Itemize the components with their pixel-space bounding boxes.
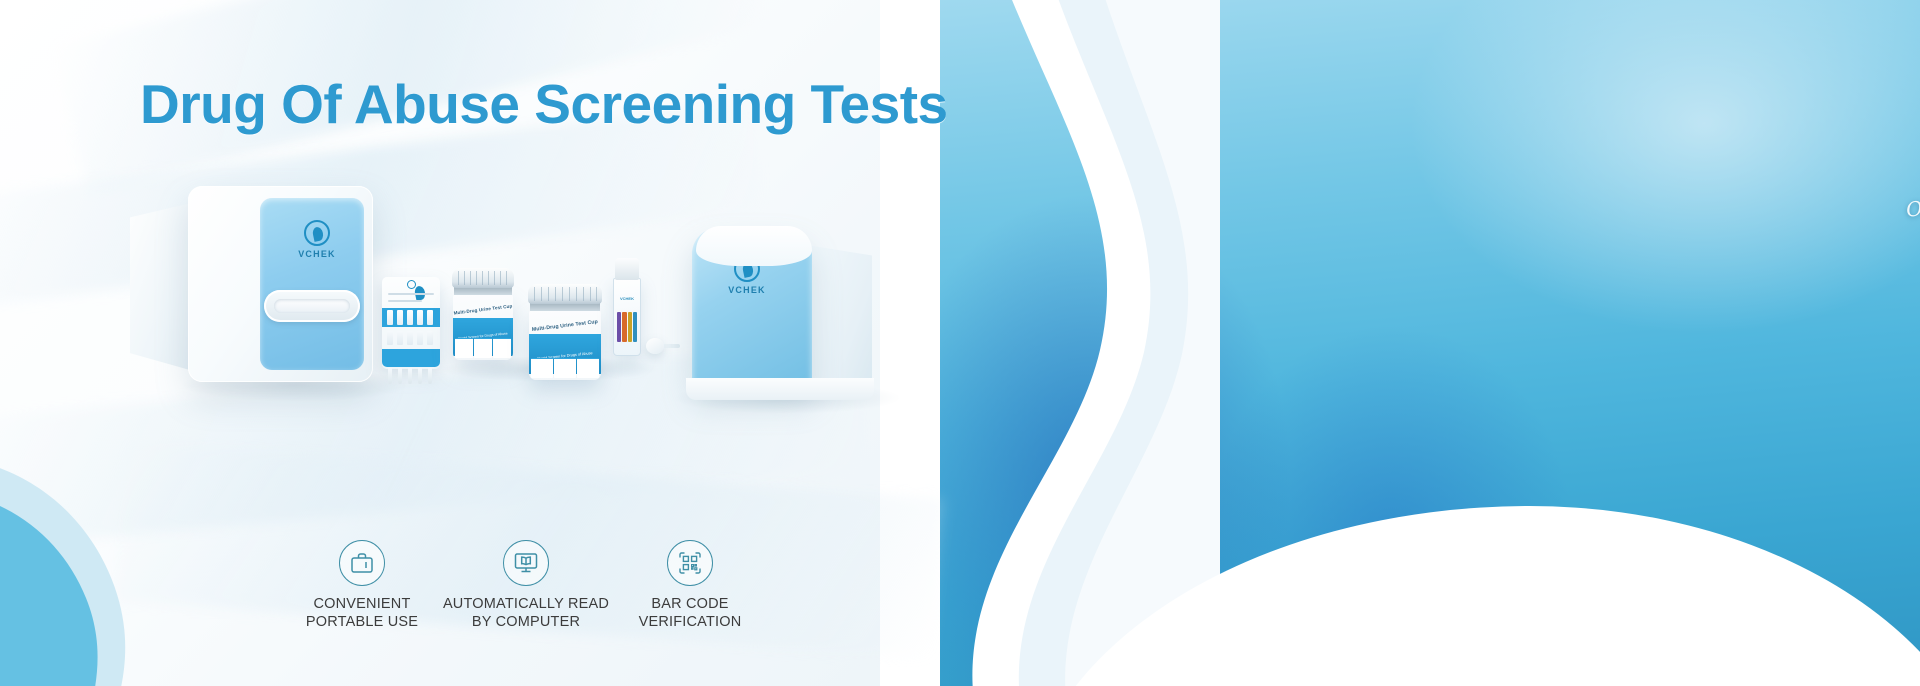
feature-portable-line1: CONVENIENT xyxy=(272,595,452,613)
cup-small-lid[interactable] xyxy=(452,268,514,288)
cup-small-result-windows xyxy=(455,338,511,358)
cup-large-title: Multi-Drug Urine Test Cup xyxy=(529,319,601,334)
feature-bar-code-line2: VERIFICATION xyxy=(600,613,780,631)
product-pipette[interactable] xyxy=(646,332,680,360)
cup-large-lid[interactable] xyxy=(528,284,602,304)
pipette-bulb xyxy=(646,338,664,354)
analyzer-left-front-face: VCHEK xyxy=(260,198,364,370)
feature-auto-read-line2: BY COMPUTER xyxy=(436,613,616,631)
vial-brand: VCHEK xyxy=(613,296,641,301)
feature-portable-line2: PORTABLE USE xyxy=(272,613,452,631)
cup-small-title: Multi-Drug Urine Test Cup xyxy=(453,303,513,315)
feature-portable-use[interactable]: CONVENIENT PORTABLE USE xyxy=(272,540,452,631)
product-analyzer-right[interactable]: VCHEK xyxy=(692,228,872,396)
feature-list: CONVENIENT PORTABLE USE AUTOMATICALLY RE… xyxy=(290,540,810,660)
feature-auto-read[interactable]: AUTOMATICALLY READ BY COMPUTER xyxy=(436,540,616,631)
promo-banner: 1,6 mg/L 128,17 g mol⁻¹ 1,18 g/cm³ 1,14 … xyxy=(0,0,1920,686)
product-test-cup-large[interactable]: Multi-Drug Urine Test Cup Rapid Screen f… xyxy=(528,284,602,380)
cup-large-result-windows xyxy=(531,358,599,378)
cassette-slot[interactable] xyxy=(264,290,360,322)
brand-emblem-icon xyxy=(304,220,330,246)
analyzer-right-top-cowl xyxy=(696,226,812,266)
feature-auto-read-line1: AUTOMATICALLY READ xyxy=(436,595,616,613)
product-oral-fluid-vial[interactable]: VCHEK xyxy=(613,258,641,356)
product-analyzer-left[interactable]: VCHEK xyxy=(188,186,373,382)
product-panel-card[interactable] xyxy=(382,277,440,369)
brand-name-left: VCHEK xyxy=(290,249,344,259)
qr-code-icon xyxy=(667,540,713,586)
panel-card-text-line-1 xyxy=(388,293,434,295)
brand-name-right: VCHEK xyxy=(714,285,780,295)
page-title: Drug Of Abuse Screening Tests xyxy=(140,76,948,134)
vial-tube: VCHEK xyxy=(613,278,641,356)
annotation-hydroxyl: OH xyxy=(1905,194,1920,221)
pipette-stem xyxy=(662,344,680,348)
feature-bar-code-line1: BAR CODE xyxy=(600,595,780,613)
briefcase-icon xyxy=(339,540,385,586)
blue-accent-blob xyxy=(0,398,250,686)
panel-card-logo-icon xyxy=(407,280,416,289)
cup-small-body: Multi-Drug Urine Test Cup Rapid Screen f… xyxy=(453,294,513,360)
vial-cap[interactable] xyxy=(615,258,639,280)
panel-card-blue-band-bottom xyxy=(382,349,440,367)
monitor-icon xyxy=(503,540,549,586)
product-test-cup-small[interactable]: Multi-Drug Urine Test Cup Rapid Screen f… xyxy=(452,268,514,360)
panel-card-text-line-2 xyxy=(388,300,422,302)
feature-bar-code[interactable]: BAR CODE VERIFICATION xyxy=(600,540,780,631)
cup-large-body: Multi-Drug Urine Test Cup Rapid Screen f… xyxy=(529,310,601,380)
vial-test-strips xyxy=(617,312,637,342)
brand-logo-left: VCHEK xyxy=(290,220,344,259)
analyzer-right-base xyxy=(686,378,874,400)
